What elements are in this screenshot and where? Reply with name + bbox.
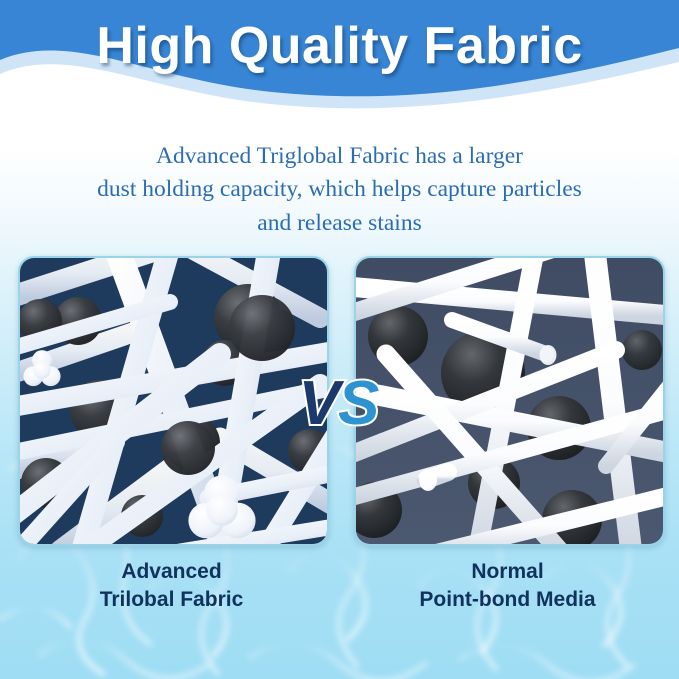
panel-captions: Advanced Trilobal Fabric Normal Point-bo… — [0, 558, 679, 622]
caption-right-line-2: Point-bond Media — [354, 586, 661, 614]
subtitle-line-3: and release stains — [22, 207, 657, 240]
pointbond-fiber-image — [356, 258, 663, 544]
vs-badge: VS — [286, 366, 390, 442]
caption-normal-pointbond: Normal Point-bond Media — [354, 558, 661, 613]
vs-letter-v: V — [299, 366, 338, 442]
vs-letter-s: S — [338, 366, 377, 442]
caption-left-line-2: Trilobal Fabric — [18, 586, 325, 614]
vs-badge-inner: VS — [299, 369, 378, 438]
caption-left-line-1: Advanced — [18, 558, 325, 586]
caption-right-line-1: Normal — [354, 558, 661, 586]
trilobal-fiber-image — [20, 258, 327, 544]
subtitle-block: Advanced Triglobal Fabric has a larger d… — [22, 140, 657, 240]
panel-advanced-trilobal — [18, 256, 329, 546]
caption-advanced-trilobal: Advanced Trilobal Fabric — [18, 558, 325, 613]
panel-normal-pointbond — [354, 256, 665, 546]
subtitle-line-1: Advanced Triglobal Fabric has a larger — [22, 140, 657, 173]
page-title: High Quality Fabric — [0, 20, 679, 72]
subtitle-line-2: dust holding capacity, which helps captu… — [22, 173, 657, 206]
header-banner: High Quality Fabric — [0, 0, 679, 135]
infographic-root: High Quality Fabric Advanced Triglobal F… — [0, 0, 679, 679]
